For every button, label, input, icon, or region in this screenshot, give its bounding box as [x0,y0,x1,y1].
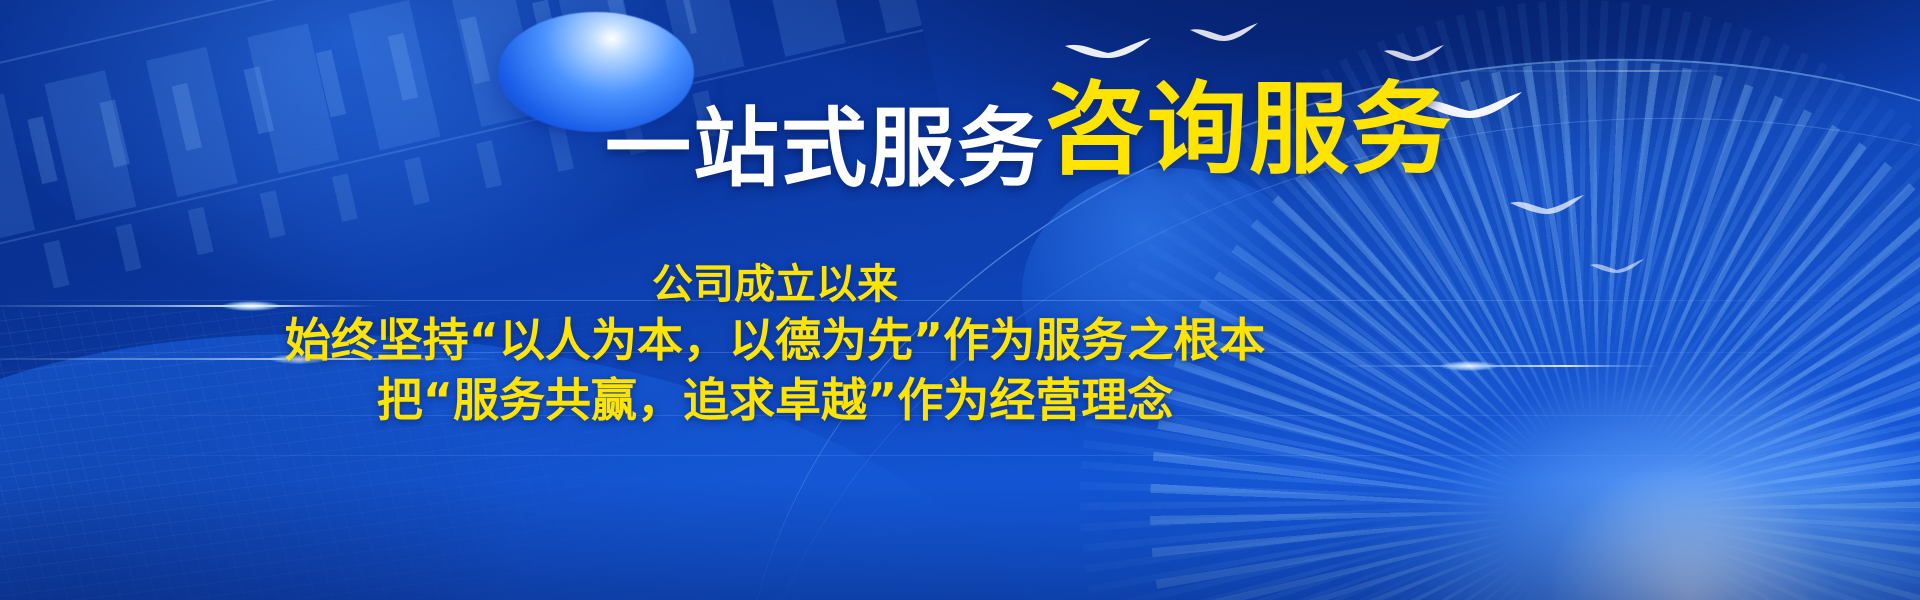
body-line-2: 始终坚持“以人为本，以德为先”作为服务之根本 [285,311,1265,371]
light-streak-4 [1430,70,1730,72]
headline-inner: 一站式服务 咨询服务 [605,78,1045,203]
body-copy: 公司成立以来 始终坚持“以人为本，以德为先”作为服务之根本 把“服务共赢，追求卓… [0,258,1920,431]
bottom-shade-band [0,480,1920,600]
body-line-1: 公司成立以来 [285,258,1265,311]
horizon-line-4 [0,455,1920,456]
headline: 一站式服务 咨询服务 [0,78,1920,203]
headline-accent: 咨询服务 [1045,48,1453,193]
headline-primary: 一站式服务 [605,99,1045,199]
promo-banner: 一站式服务 咨询服务 公司成立以来 始终坚持“以人为本，以德为先”作为服务之根本… [0,0,1920,600]
body-copy-inner: 公司成立以来 始终坚持“以人为本，以德为先”作为服务之根本 把“服务共赢，追求卓… [285,258,1265,431]
body-line-3: 把“服务共赢，追求卓越”作为经营理念 [285,371,1265,431]
seagull-2-icon [1188,22,1260,46]
